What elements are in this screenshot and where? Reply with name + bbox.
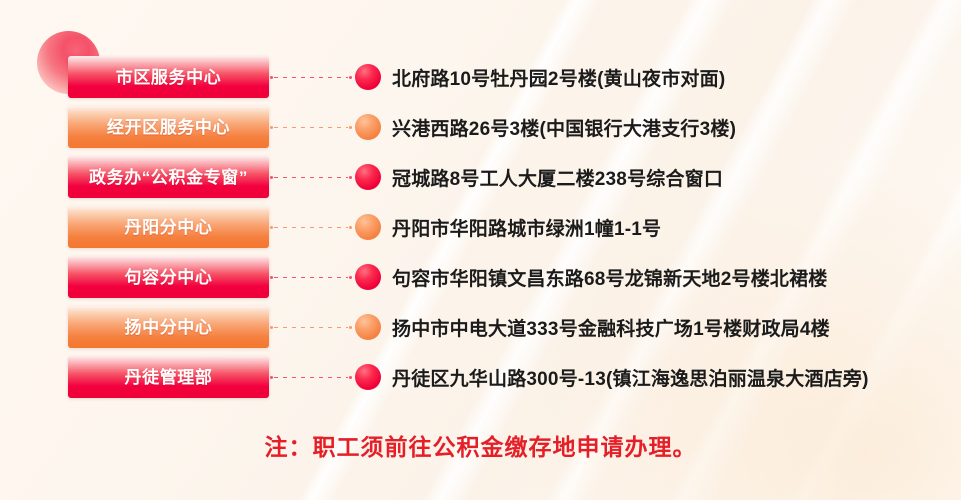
service-center-row: 丹徒管理部丹徒区九华山路300号-13(镇江海逸思泊丽温泉大酒店旁) xyxy=(0,356,961,398)
connector-start-dot xyxy=(270,326,273,329)
service-center-list: 市区服务中心北府路10号牡丹园2号楼(黄山夜市对面)经开区服务中心兴港西路26号… xyxy=(0,0,961,420)
service-center-address: 北府路10号牡丹园2号楼(黄山夜市对面) xyxy=(392,56,725,98)
dashed-connector xyxy=(270,276,352,279)
bullet-dot-icon xyxy=(355,264,381,290)
connector-dash-line xyxy=(274,227,348,228)
connector-end-dot xyxy=(349,126,352,129)
connector-start-dot xyxy=(270,126,273,129)
service-center-row: 政务办“公积金专窗”冠城路8号工人大厦二楼238号综合窗口 xyxy=(0,156,961,198)
connector-start-dot xyxy=(270,226,273,229)
poster-canvas: 市区服务中心北府路10号牡丹园2号楼(黄山夜市对面)经开区服务中心兴港西路26号… xyxy=(0,0,961,500)
connector-start-dot xyxy=(270,276,273,279)
connector-dash-line xyxy=(274,377,348,378)
dashed-connector xyxy=(270,176,352,179)
connector-start-dot xyxy=(270,176,273,179)
dashed-connector xyxy=(270,76,352,79)
service-center-address: 丹徒区九华山路300号-13(镇江海逸思泊丽温泉大酒店旁) xyxy=(392,356,869,398)
service-center-label-bar[interactable]: 经开区服务中心 xyxy=(68,106,269,148)
service-center-label-text: 丹徒管理部 xyxy=(125,369,213,386)
service-center-label-text: 政务办“公积金专窗” xyxy=(89,169,248,186)
bullet-dot-icon xyxy=(355,64,381,90)
service-center-address: 扬中市中电大道333号金融科技广场1号楼财政局4楼 xyxy=(392,306,830,348)
service-center-label-text: 丹阳分中心 xyxy=(125,219,213,236)
service-center-address: 丹阳市华阳路城市绿洲1幢1-1号 xyxy=(392,206,661,248)
bullet-dot-icon xyxy=(355,164,381,190)
service-center-row: 扬中分中心扬中市中电大道333号金融科技广场1号楼财政局4楼 xyxy=(0,306,961,348)
service-center-label-bar[interactable]: 市区服务中心 xyxy=(68,56,269,98)
dashed-connector xyxy=(270,126,352,129)
connector-dash-line xyxy=(274,177,348,178)
service-center-label-text: 句容分中心 xyxy=(125,269,213,286)
connector-dash-line xyxy=(274,77,348,78)
footer-note: 注：职工须前往公积金缴存地申请办理。 xyxy=(0,428,961,462)
service-center-label-text: 扬中分中心 xyxy=(125,319,213,336)
service-center-row: 经开区服务中心兴港西路26号3楼(中国银行大港支行3楼) xyxy=(0,106,961,148)
service-center-address: 冠城路8号工人大厦二楼238号综合窗口 xyxy=(392,156,723,198)
dashed-connector xyxy=(270,376,352,379)
service-center-address: 兴港西路26号3楼(中国银行大港支行3楼) xyxy=(392,106,736,148)
connector-end-dot xyxy=(349,276,352,279)
bullet-dot-icon xyxy=(355,114,381,140)
service-center-row: 丹阳分中心丹阳市华阳路城市绿洲1幢1-1号 xyxy=(0,206,961,248)
bullet-dot-icon xyxy=(355,364,381,390)
dashed-connector xyxy=(270,226,352,229)
service-center-label-text: 经开区服务中心 xyxy=(107,119,230,136)
service-center-label-bar[interactable]: 丹徒管理部 xyxy=(68,356,269,398)
service-center-row: 句容分中心句容市华阳镇文昌东路68号龙锦新天地2号楼北裙楼 xyxy=(0,256,961,298)
connector-end-dot xyxy=(349,376,352,379)
connector-end-dot xyxy=(349,226,352,229)
service-center-address: 句容市华阳镇文昌东路68号龙锦新天地2号楼北裙楼 xyxy=(392,256,828,298)
connector-start-dot xyxy=(270,76,273,79)
connector-end-dot xyxy=(349,76,352,79)
service-center-label-bar[interactable]: 政务办“公积金专窗” xyxy=(68,156,269,198)
bullet-dot-icon xyxy=(355,314,381,340)
service-center-label-bar[interactable]: 扬中分中心 xyxy=(68,306,269,348)
dashed-connector xyxy=(270,326,352,329)
connector-start-dot xyxy=(270,376,273,379)
connector-dash-line xyxy=(274,327,348,328)
service-center-label-bar[interactable]: 句容分中心 xyxy=(68,256,269,298)
connector-end-dot xyxy=(349,176,352,179)
connector-dash-line xyxy=(274,127,348,128)
service-center-label-bar[interactable]: 丹阳分中心 xyxy=(68,206,269,248)
connector-dash-line xyxy=(274,277,348,278)
bullet-dot-icon xyxy=(355,214,381,240)
service-center-label-text: 市区服务中心 xyxy=(116,69,222,86)
connector-end-dot xyxy=(349,326,352,329)
service-center-row: 市区服务中心北府路10号牡丹园2号楼(黄山夜市对面) xyxy=(0,56,961,98)
